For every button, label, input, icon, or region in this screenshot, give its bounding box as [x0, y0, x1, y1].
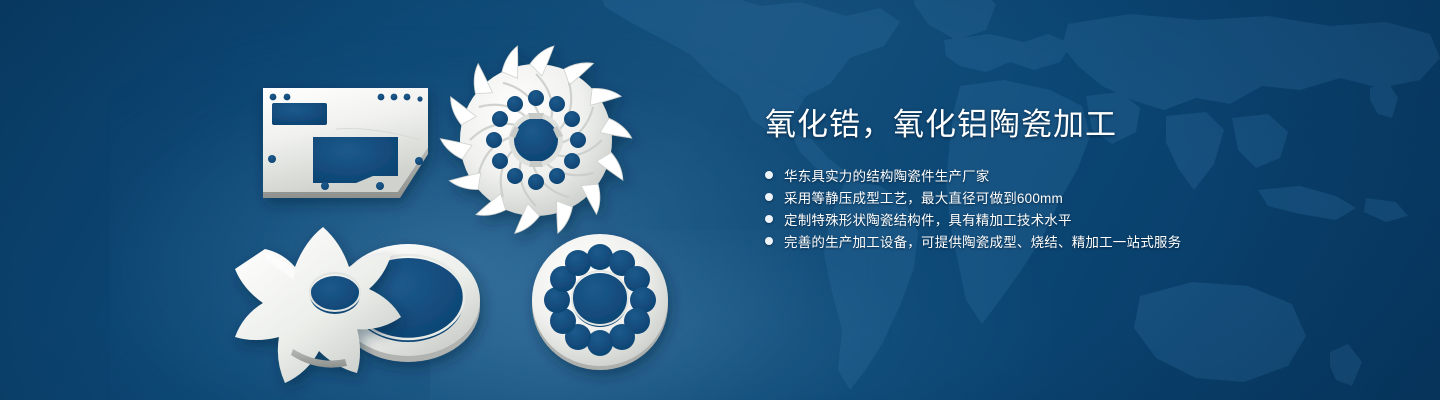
- ceramic-products-group: [0, 0, 740, 400]
- ceramic-plate-with-cutouts: [263, 88, 428, 198]
- bullet-dot-icon: [765, 237, 773, 245]
- list-item-label: 完善的生产加工设备，可提供陶瓷成型、烧结、精加工一站式服务: [784, 231, 1181, 251]
- bullet-dot-icon: [765, 215, 773, 223]
- ceramic-impeller-disc: [440, 46, 631, 234]
- hero-banner: 氧化锆，氧化铝陶瓷加工 华东具实力的结构陶瓷件生产厂家 采用等静压成型工艺，最大…: [0, 0, 1440, 400]
- list-item: 华东具实力的结构陶瓷件生产厂家: [765, 165, 1385, 186]
- list-item: 完善的生产加工设备，可提供陶瓷成型、烧结、精加工一站式服务: [765, 231, 1385, 252]
- list-item-label: 采用等静压成型工艺，最大直径可做到600mm: [784, 187, 1063, 207]
- page-title: 氧化锆，氧化铝陶瓷加工: [765, 108, 1385, 143]
- bullet-dot-icon: [765, 171, 773, 179]
- ceramic-perforated-disc: [532, 234, 668, 370]
- list-item: 采用等静压成型工艺，最大直径可做到600mm: [765, 187, 1385, 208]
- list-item-label: 定制特殊形状陶瓷结构件，具有精加工技术水平: [784, 209, 1072, 229]
- banner-copy: 氧化锆，氧化铝陶瓷加工 华东具实力的结构陶瓷件生产厂家 采用等静压成型工艺，最大…: [765, 108, 1385, 253]
- feature-list: 华东具实力的结构陶瓷件生产厂家 采用等静压成型工艺，最大直径可做到600mm 定…: [765, 165, 1385, 252]
- list-item: 定制特殊形状陶瓷结构件，具有精加工技术水平: [765, 209, 1385, 230]
- list-item-label: 华东具实力的结构陶瓷件生产厂家: [784, 165, 990, 185]
- bullet-dot-icon: [765, 193, 773, 201]
